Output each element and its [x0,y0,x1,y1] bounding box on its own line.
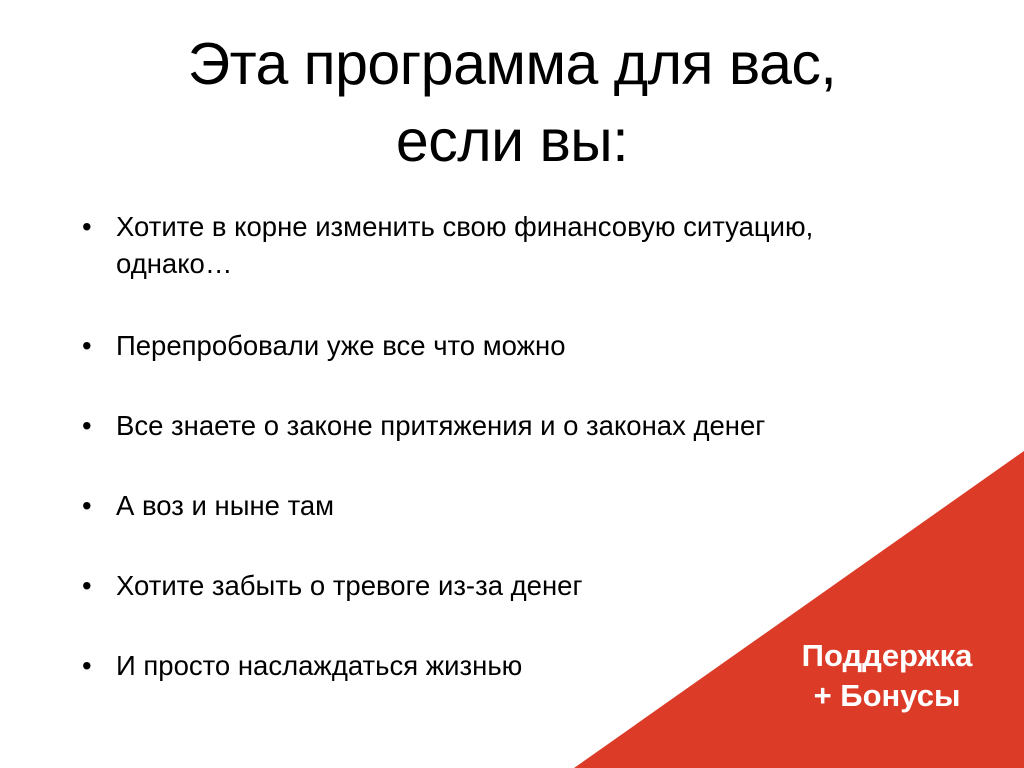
list-item-text: Хотите забыть о тревоге из-за денег [116,567,978,604]
list-item-text: И просто наслаждаться жизнью [116,647,978,684]
list-item-text: Перепробовали уже все что можно [116,327,978,364]
list-item: • Хотите забыть о тревоге из-за денег [78,567,978,604]
bullet-marker-icon: • [82,487,102,524]
bullet-marker-icon: • [82,567,102,604]
list-item: • Хотите в корне изменить свою финансову… [78,208,978,282]
title-line-2: если вы: [62,103,962,180]
list-item: • Перепробовали уже все что можно [78,327,978,364]
title-line-1: Эта программа для вас, [62,26,962,103]
slide-canvas: Эта программа для вас, если вы: • Хотите… [0,0,1024,768]
bullet-marker-icon: • [82,327,102,364]
list-item-text: Хотите в корне изменить свою финансовую … [116,208,978,282]
list-item: • И просто наслаждаться жизнью [78,647,978,684]
list-item: • А воз и ныне там [78,487,978,524]
bullet-marker-icon: • [82,647,102,684]
list-item-text: А воз и ныне там [116,487,978,524]
list-item: • Все знаете о законе притяжения и о зак… [78,407,978,444]
bullet-marker-icon: • [82,208,102,245]
bullet-marker-icon: • [82,407,102,444]
page-title: Эта программа для вас, если вы: [62,26,962,180]
bullet-list: • Хотите в корне изменить свою финансову… [78,208,978,684]
list-item-text: Все знаете о законе притяжения и о закон… [116,407,978,444]
